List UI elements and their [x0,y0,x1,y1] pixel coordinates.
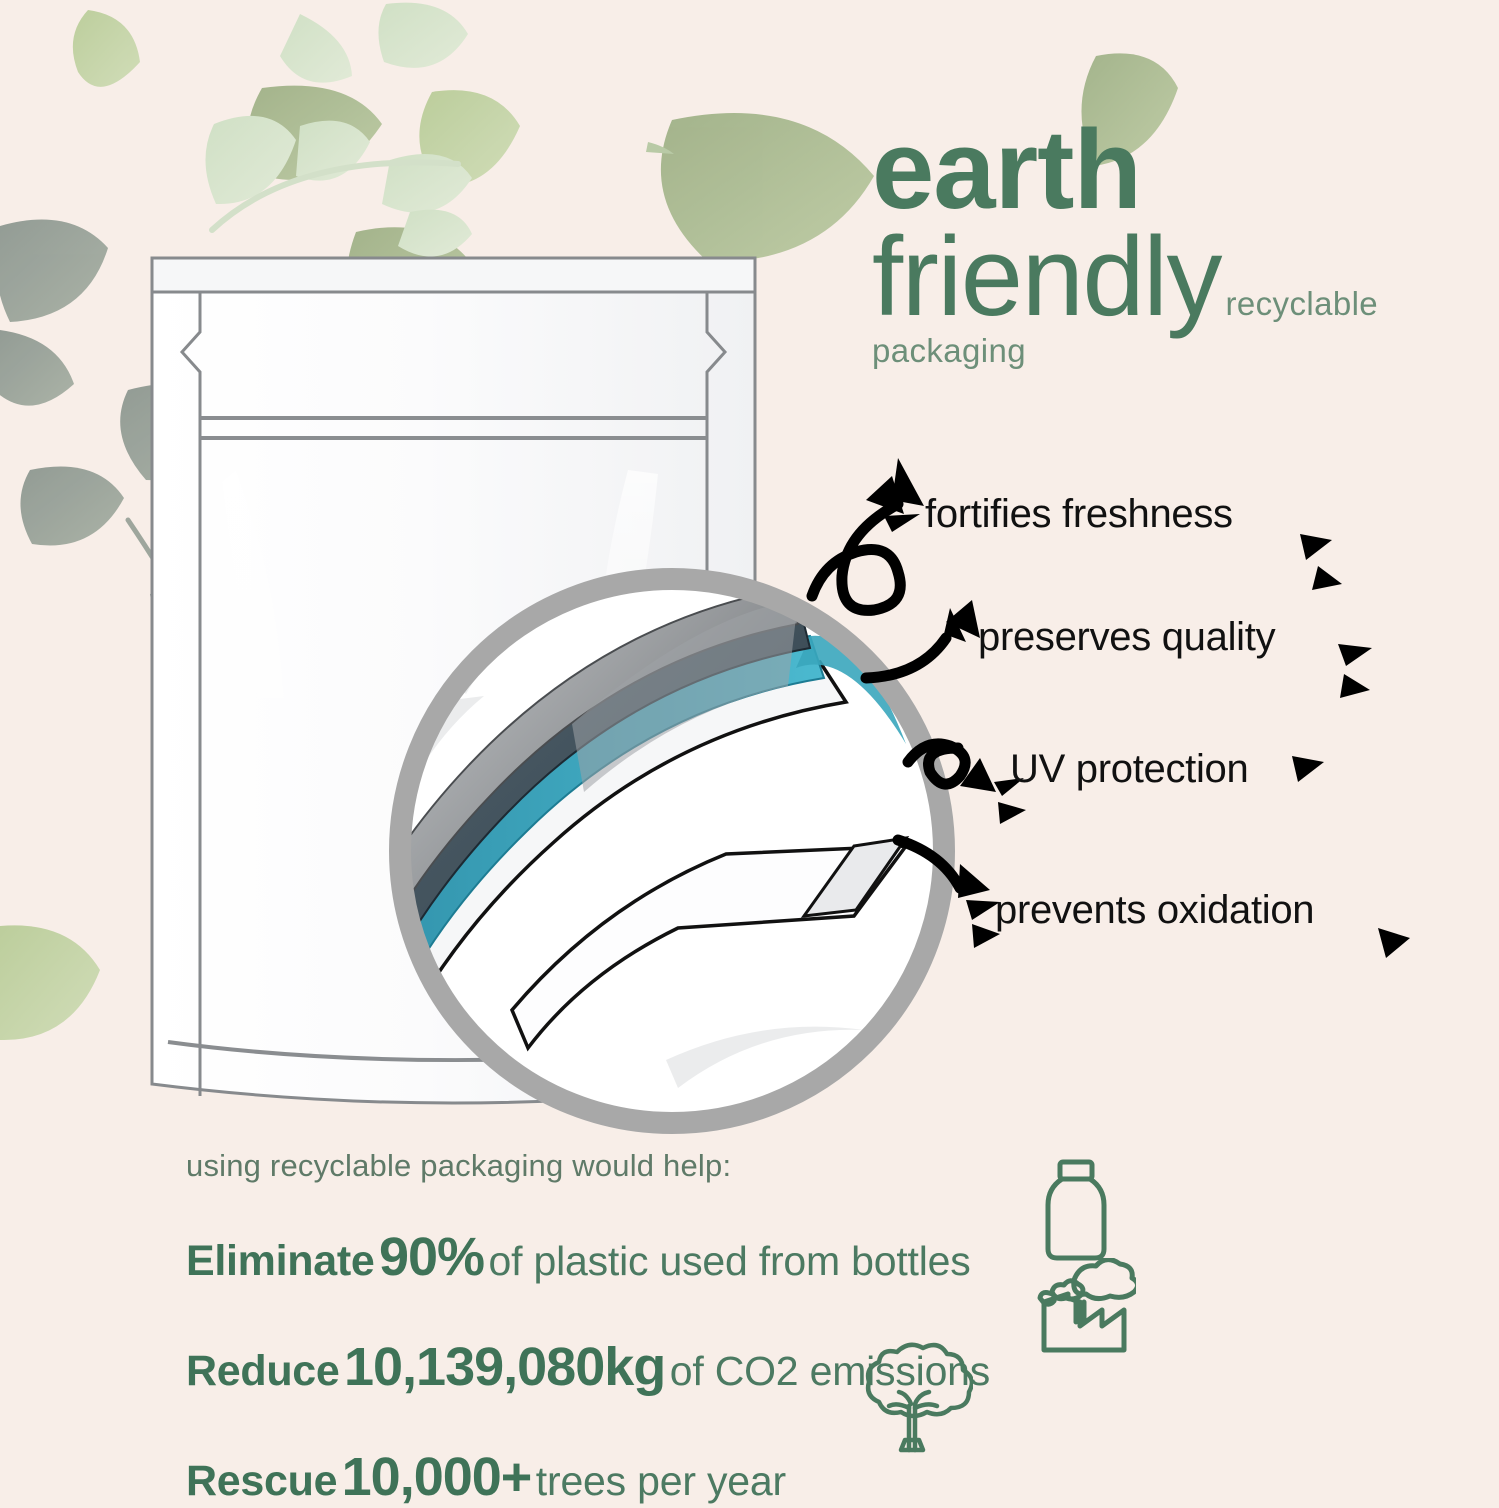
stat-row-reduce: Reduce 10,139,080kg of CO2 emissions [186,1336,1346,1398]
stat-tail: of plastic used from bottles [488,1238,970,1284]
statistics-lead-text: using recyclable packaging would help: [186,1148,731,1183]
stat-number: 10,139,080kg [344,1337,665,1397]
stat-verb: Reduce [186,1347,340,1395]
feature-label-preserves-quality: preserves quality [978,615,1275,660]
headline-block: earth friendly recyclable packaging [872,118,1472,370]
headline-line-2: friendly [872,214,1221,339]
tree-icon [853,1338,973,1462]
stat-row-rescue: Rescue 10,000+ trees per year [186,1446,1346,1508]
infographic-canvas: earth friendly recyclable packaging fort… [0,0,1499,1500]
stat-verb: Rescue [186,1457,337,1505]
stat-verb: Eliminate [186,1237,374,1285]
feature-label-fortifies-freshness: fortifies freshness [925,492,1233,537]
feature-label-uv-protection: UV protection [1010,747,1248,792]
bottle-icon [1038,1158,1114,1262]
stat-number: 90% [379,1227,484,1287]
statistics-block: using recyclable packaging would help: E… [186,1148,1346,1508]
stat-tail: trees per year [536,1458,786,1504]
stat-number: 10,000+ [342,1447,532,1507]
factory-icon [1032,1258,1136,1354]
feature-label-prevents-oxidation: prevents oxidation [995,888,1314,933]
stat-row-eliminate: Eliminate 90% of plastic used from bottl… [186,1226,1346,1288]
